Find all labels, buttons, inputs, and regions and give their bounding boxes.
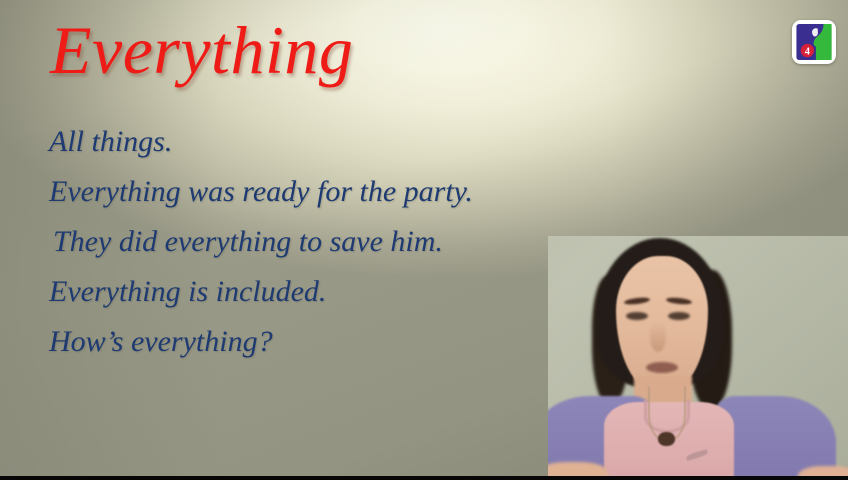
example-sentence-2: They did everything to save him.: [49, 217, 609, 267]
presenter-eye-left: [626, 312, 648, 320]
definition-line: All things.: [49, 117, 609, 167]
definition-list: All things. Everything was ready for the…: [49, 117, 609, 367]
presenter-nose: [650, 322, 666, 352]
presenter-mouth: [646, 362, 678, 373]
example-sentence-1: Everything was ready for the party.: [49, 167, 609, 217]
example-sentence-3: Everything is included.: [49, 267, 609, 317]
presenter-eye-right: [668, 312, 690, 320]
example-sentence-4: How’s everything?: [49, 317, 609, 367]
channel-logo-icon: 4: [795, 23, 833, 61]
channel-logo-badge: 4: [792, 20, 836, 64]
logo-digit: 4: [805, 46, 811, 57]
presenter-webcam-overlay: [548, 236, 848, 480]
bottom-letterbox-bar: [0, 476, 848, 480]
presenter-lapel-microphone: [658, 432, 675, 446]
lesson-slide: Everything All things. Everything was re…: [0, 0, 848, 480]
slide-title: Everything: [50, 12, 353, 88]
